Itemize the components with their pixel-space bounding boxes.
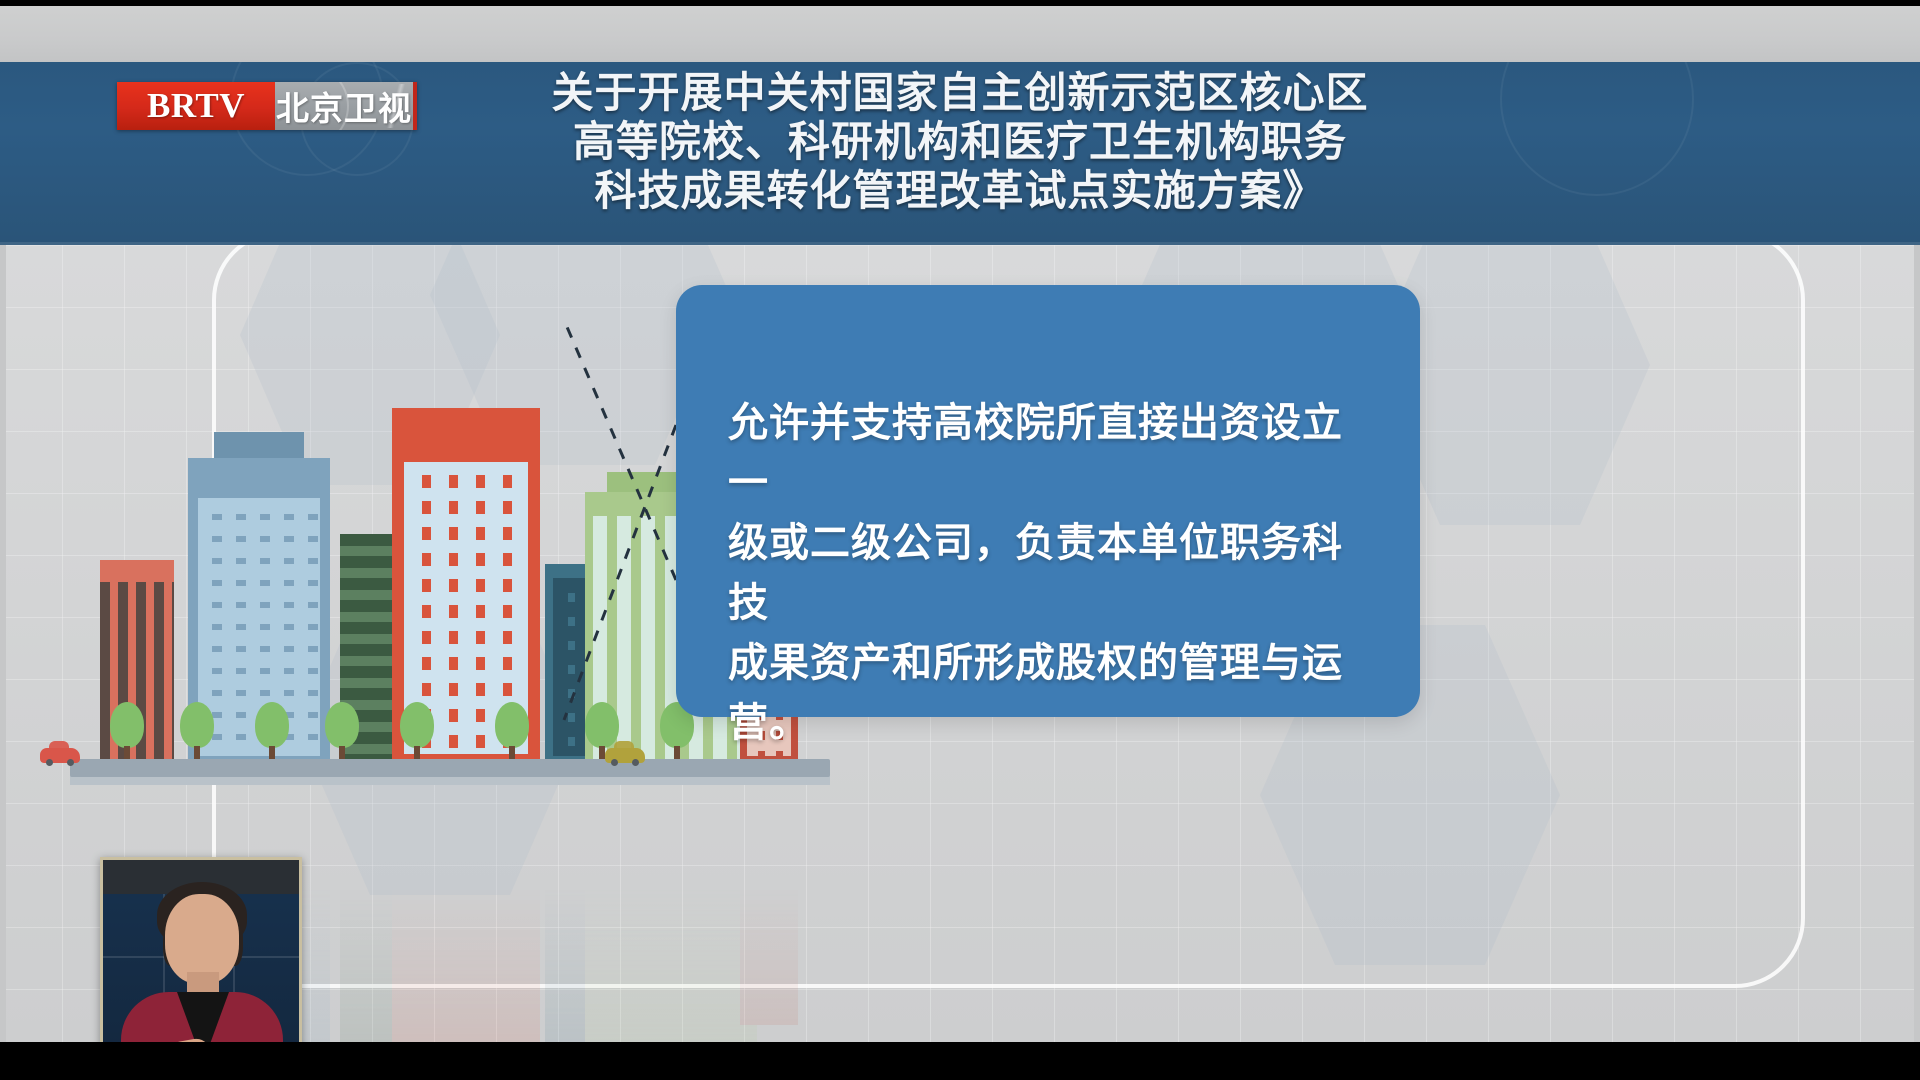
broadcast-screen: 关于开展中关村国家自主创新示范区核心区 高等院校、科研机构和医疗卫生机构职务 科… — [0, 0, 1920, 1080]
reflection-building — [545, 885, 611, 1042]
stage-rail-left — [0, 245, 6, 1042]
tree — [180, 702, 214, 759]
news-anchor-video-inset — [100, 857, 302, 1042]
letterbox-bottom — [0, 1042, 1920, 1080]
callout-line-2: 级或二级公司，负责本单位职务科技 — [728, 513, 1380, 633]
top-grey-strip — [0, 6, 1920, 62]
channel-logo-latin: BRTV — [117, 82, 275, 130]
car-red-left — [40, 748, 80, 763]
tree — [325, 702, 359, 759]
car-olive-mid — [605, 748, 645, 763]
letterbox-top — [0, 0, 1920, 6]
building-cap — [214, 432, 304, 458]
tree — [255, 702, 289, 759]
callout-box: 允许并支持高校院所直接出资设立一 级或二级公司，负责本单位职务科技 成果资产和所… — [676, 285, 1420, 717]
reflection-building — [392, 885, 540, 1042]
reflection-building — [340, 885, 426, 1042]
stage-rail-right — [1914, 245, 1920, 1042]
tree — [400, 702, 434, 759]
channel-logo: BRTV 北京卫视 — [117, 82, 417, 130]
street — [70, 759, 830, 777]
callout-line-1: 允许并支持高校院所直接出资设立一 — [728, 393, 1380, 513]
title-line-3: 科技成果转化管理改革试点实施方案》 — [0, 166, 1920, 215]
reflection-building — [585, 885, 757, 1042]
tree — [110, 702, 144, 759]
callout-text: 允许并支持高校院所直接出资设立一 级或二级公司，负责本单位职务科技 成果资产和所… — [728, 393, 1380, 753]
street-shadow — [70, 776, 830, 785]
graphic-stage: 允许并支持高校院所直接出资设立一 级或二级公司，负责本单位职务科技 成果资产和所… — [0, 245, 1920, 1042]
reflection-building — [740, 885, 798, 1025]
channel-logo-chinese: 北京卫视 — [275, 82, 417, 130]
anchor-face — [165, 894, 239, 984]
tree — [495, 702, 529, 759]
callout-line-3: 成果资产和所形成股权的管理与运营。 — [728, 633, 1380, 753]
